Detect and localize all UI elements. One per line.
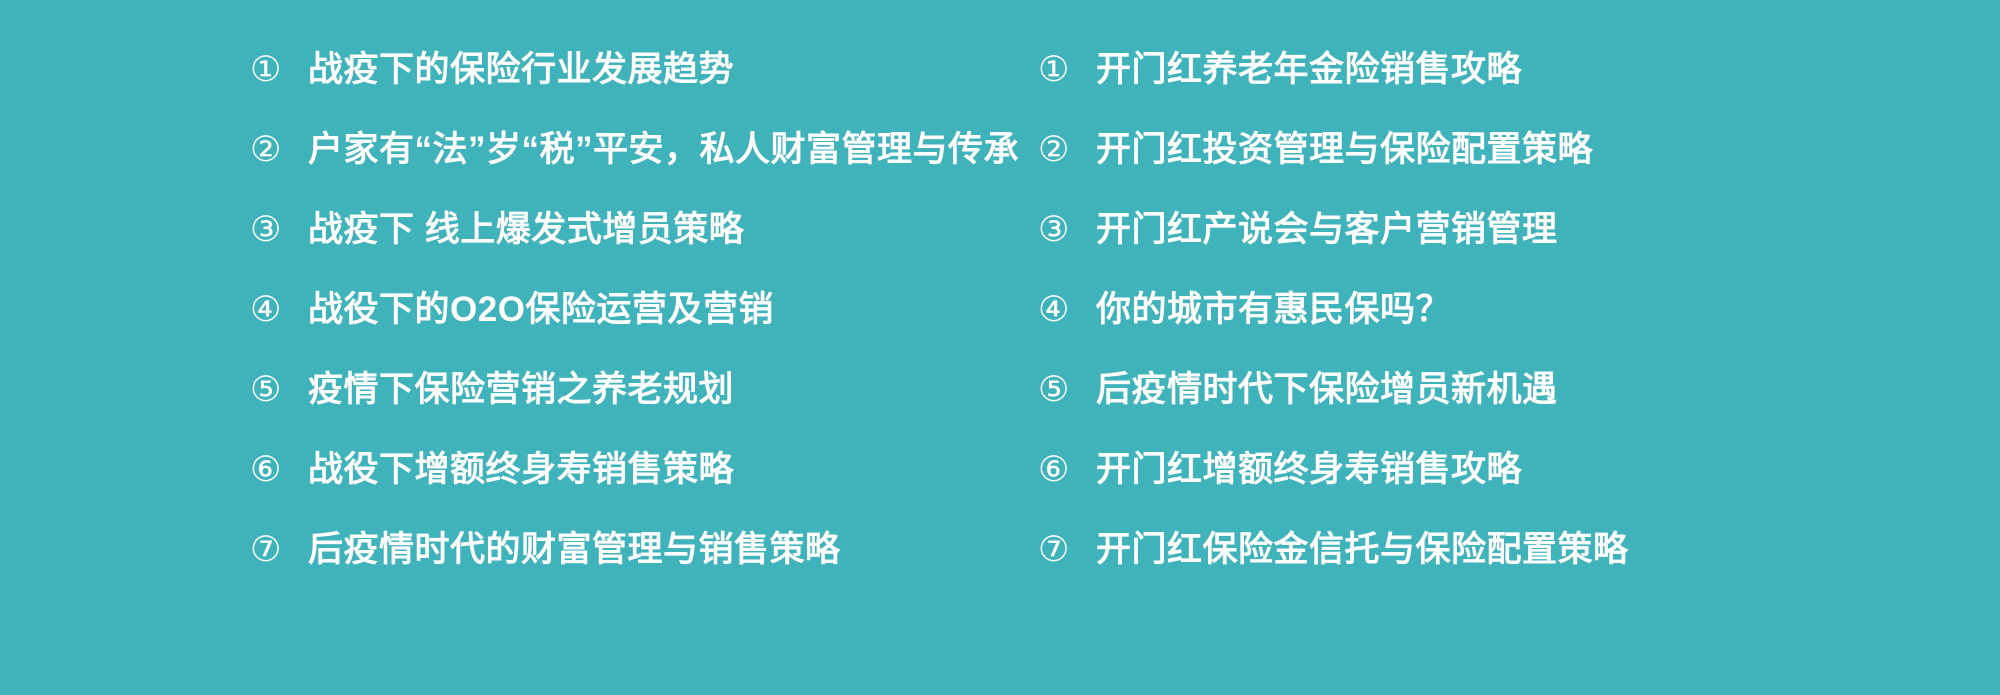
list-item-number: ③ [250,213,308,248]
list-item-number: ⑥ [250,453,308,488]
list-item[interactable]: ① 开门红养老年金险销售攻略 [1038,52,1898,132]
list-item[interactable]: ⑦ 开门红保险金信托与保险配置策略 [1038,532,1898,612]
list-item[interactable]: ③ 战疫下 线上爆发式增员策略 [250,212,1030,292]
list-item-number: ① [1038,53,1096,88]
list-item[interactable]: ③ 开门红产说会与客户营销管理 [1038,212,1898,292]
list-item-label: 疫情下保险营销之养老规划 [308,372,734,407]
list-item[interactable]: ④ 战役下的O2O保险运营及营销 [250,292,1030,372]
list-item-label: 开门红增额终身寿销售攻略 [1096,452,1522,487]
list-item[interactable]: ② 户家有“法”岁“税”平安，私人财富管理与传承 [250,132,1030,212]
list-item[interactable]: ④ 你的城市有惠民保吗？ [1038,292,1898,372]
list-item-label: 战疫下的保险行业发展趋势 [308,52,734,87]
list-item-number: ⑦ [250,533,308,568]
list-item-label: 开门红保险金信托与保险配置策略 [1096,532,1629,567]
list-item[interactable]: ⑥ 战役下增额终身寿销售策略 [250,452,1030,532]
list-item-label: 后疫情时代的财富管理与销售策略 [308,532,841,567]
list-item-label: 战役下的O2O保险运营及营销 [308,292,774,327]
list-item-label: 战役下增额终身寿销售策略 [308,452,734,487]
list-item-number: ④ [1038,293,1096,328]
topic-list-slide: ① 战疫下的保险行业发展趋势 ② 户家有“法”岁“税”平安，私人财富管理与传承 … [0,0,2000,695]
list-item-number: ② [1038,133,1096,168]
right-topic-list: ① 开门红养老年金险销售攻略 ② 开门红投资管理与保险配置策略 ③ 开门红产说会… [1038,52,1898,612]
list-item-label: 你的城市有惠民保吗？ [1096,292,1451,327]
list-item[interactable]: ① 战疫下的保险行业发展趋势 [250,52,1030,132]
list-item[interactable]: ⑤ 后疫情时代下保险增员新机遇 [1038,372,1898,452]
list-item-number: ⑥ [1038,453,1096,488]
list-item-label: 开门红投资管理与保险配置策略 [1096,132,1593,167]
list-item[interactable]: ⑦ 后疫情时代的财富管理与销售策略 [250,532,1030,612]
list-item-label: 户家有“法”岁“税”平安，私人财富管理与传承 [308,132,1019,167]
list-item-number: ② [250,133,308,168]
list-item-label: 战疫下 线上爆发式增员策略 [308,212,744,247]
list-item[interactable]: ② 开门红投资管理与保险配置策略 [1038,132,1898,212]
list-item-label: 开门红养老年金险销售攻略 [1096,52,1522,87]
list-item-number: ④ [250,293,308,328]
left-topic-list: ① 战疫下的保险行业发展趋势 ② 户家有“法”岁“税”平安，私人财富管理与传承 … [250,52,1030,612]
list-item-number: ⑦ [1038,533,1096,568]
list-item-label: 后疫情时代下保险增员新机遇 [1096,372,1558,407]
list-item-label: 开门红产说会与客户营销管理 [1096,212,1558,247]
list-item[interactable]: ⑤ 疫情下保险营销之养老规划 [250,372,1030,452]
list-item-number: ⑤ [250,373,308,408]
list-item-number: ① [250,53,308,88]
list-item-number: ⑤ [1038,373,1096,408]
list-item-number: ③ [1038,213,1096,248]
list-item[interactable]: ⑥ 开门红增额终身寿销售攻略 [1038,452,1898,532]
